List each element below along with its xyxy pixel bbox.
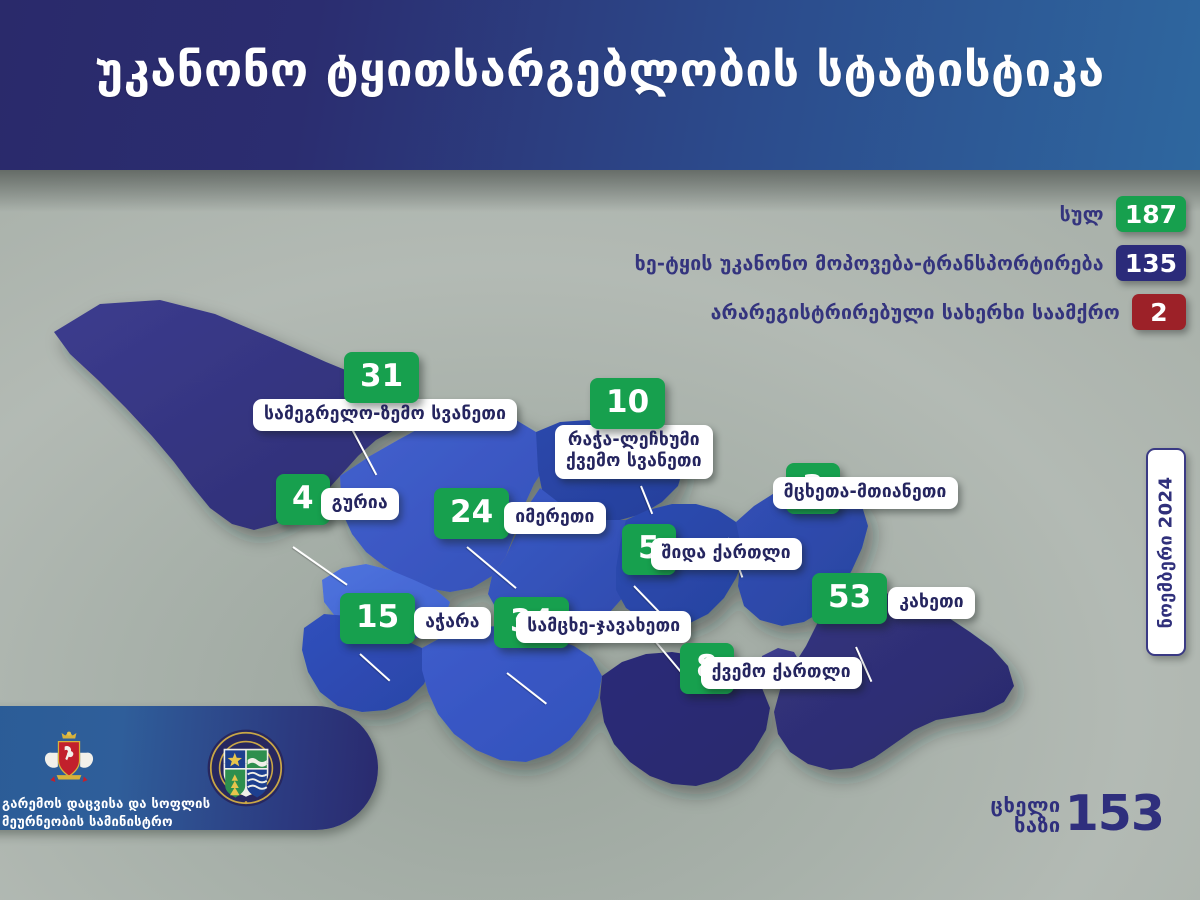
georgia-coat-of-arms-icon xyxy=(38,728,100,790)
legend: სულ 187 ხე-ტყის უკანონო მოპოვება-ტრანსპო… xyxy=(635,196,1186,330)
map-pin-value-racha-lechkhumi-kvemo-svaneti: 10 xyxy=(590,378,665,429)
legend-badge-unregistered-sawmill: 2 xyxy=(1132,294,1186,330)
map-pin-adjara[interactable]: 15 აჭარა xyxy=(340,593,491,644)
map-pin-samtskhe-javakheti[interactable]: 34 სამცხე-ჯავახეთი xyxy=(494,597,691,648)
map-pin-label-line1-racha: რაჭა-ლეჩხუმი xyxy=(568,430,700,450)
map-pin-label-line2-racha: ქვემო სვანეთი xyxy=(566,451,702,471)
date-chip: ნოემბერი 2024 xyxy=(1146,448,1186,656)
map-pin-label-samegrelo-zemo-svaneti: სამეგრელო-ზემო სვანეთი xyxy=(253,399,517,431)
map-pin-label-imereti: იმერეთი xyxy=(504,502,605,534)
hotline-number: 153 xyxy=(1065,791,1164,838)
legend-row-total: სულ 187 xyxy=(1060,196,1186,232)
map-pin-samegrelo-zemo-svaneti[interactable]: 31 სამეგრელო-ზემო სვანეთი xyxy=(344,352,517,431)
legend-row-illegal-logging-transport: ხე-ტყის უკანონო მოპოვება-ტრანსპორტირება … xyxy=(635,245,1186,281)
hotline: ცხელი ხაზი 153 xyxy=(991,791,1164,838)
legend-label-illegal-logging-transport: ხე-ტყის უკანონო მოპოვება-ტრანსპორტირება xyxy=(635,252,1104,275)
ministry-name-line1: გარემოს დაცვისა და სოფლის xyxy=(2,796,210,814)
hotline-words: ცხელი ხაზი xyxy=(991,795,1061,835)
map-pin-label-shida-kartli: შიდა ქართლი xyxy=(651,538,802,570)
map-pin-value-samegrelo-zemo-svaneti: 31 xyxy=(344,352,419,403)
page-title: უკანონო ტყითსარგებლობის სტატისტიკა xyxy=(0,44,1200,98)
map-pin-value-adjara: 15 xyxy=(340,593,415,644)
legend-label-unregistered-sawmill: არარეგისტრირებული სახერხი საამქრო xyxy=(711,301,1120,324)
map-pin-label-adjara: აჭარა xyxy=(414,607,490,639)
date-chip-label: ნოემბერი 2024 xyxy=(1156,476,1177,628)
footer-bar: გარემოს დაცვისა და სოფლის მეურნეობის სამ… xyxy=(0,706,378,830)
legend-badge-illegal-logging-transport: 135 xyxy=(1116,245,1186,281)
map-pin-shida-kartli[interactable]: 5 შიდა ქართლი xyxy=(622,524,802,575)
map-pin-label-guria: გურია xyxy=(321,488,399,520)
map-pin-value-kakheti: 53 xyxy=(812,573,887,624)
ministry-name-line2: მეურნეობის სამინისტრო xyxy=(2,814,210,832)
map-pin-kvemo-kartli[interactable]: 8 ქვემო ქართლი xyxy=(680,643,862,694)
map-pin-label-kakheti: კახეთი xyxy=(888,587,975,619)
map-pin-mtskheta-mtianeti[interactable]: 3 მცხეთა-მთიანეთი xyxy=(786,463,958,514)
legend-label-total: სულ xyxy=(1060,203,1104,226)
hotline-word1: ცხელი xyxy=(991,795,1061,815)
map-pin-imereti[interactable]: 24 იმერეთი xyxy=(434,488,606,539)
map-pin-label-mtskheta-mtianeti: მცხეთა-მთიანეთი xyxy=(773,477,958,509)
map-pin-guria[interactable]: 4 გურია xyxy=(276,474,399,525)
legend-row-unregistered-sawmill: არარეგისტრირებული სახერხი საამქრო 2 xyxy=(711,294,1186,330)
map-pin-kakheti[interactable]: 53 კახეთი xyxy=(812,573,975,624)
legend-badge-total: 187 xyxy=(1116,196,1186,232)
map-pin-value-imereti: 24 xyxy=(434,488,509,539)
map-pin-label-samtskhe-javakheti: სამცხე-ჯავახეთი xyxy=(516,611,691,643)
map-pin-label-kvemo-kartli: ქვემო ქართლი xyxy=(701,657,862,689)
ministry-name: გარემოს დაცვისა და სოფლის მეურნეობის სამ… xyxy=(2,796,210,833)
map-pin-racha-lechkhumi-kvemo-svaneti[interactable]: 10 რაჭა-ლეჩხუმი ქვემო სვანეთი xyxy=(590,378,713,479)
map-pin-label-racha-lechkhumi-kvemo-svaneti: რაჭა-ლეჩხუმი ქვემო სვანეთი xyxy=(555,425,713,479)
header-banner: უკანონო ტყითსარგებლობის სტატისტიკა xyxy=(0,0,1200,170)
hotline-word2: ხაზი xyxy=(991,815,1061,835)
ministry-seal-icon xyxy=(206,728,286,808)
